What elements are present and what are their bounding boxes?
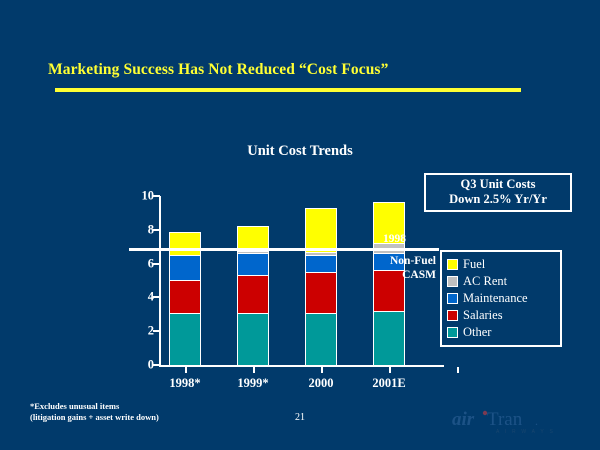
airtran-logo-svg: air Tran . A I R W A Y S bbox=[452, 408, 556, 438]
chart-legend: FuelAC RentMaintenanceSalariesOther bbox=[440, 250, 562, 347]
bar-segment-salaries bbox=[305, 272, 337, 313]
stacked-bar-1998[interactable] bbox=[169, 232, 201, 365]
x-axis-label: 2000 bbox=[309, 376, 334, 391]
svg-text:air: air bbox=[452, 409, 475, 430]
svg-text:.: . bbox=[535, 414, 538, 428]
legend-swatch-icon bbox=[447, 276, 458, 287]
x-axis-label: 1998* bbox=[169, 376, 200, 391]
legend-item-ac-rent[interactable]: AC Rent bbox=[447, 273, 555, 290]
slide-title: Marketing Success Has Not Reduced “Cost … bbox=[48, 61, 552, 79]
reference-line-label-metric-line1: Non-Fuel bbox=[370, 254, 436, 268]
legend-item-salaries[interactable]: Salaries bbox=[447, 307, 555, 324]
y-axis-tick-mark bbox=[153, 330, 160, 332]
x-axis-tick-mark bbox=[457, 367, 459, 373]
airtran-logo: air Tran . A I R W A Y S bbox=[452, 408, 556, 438]
x-axis-tick-mark bbox=[321, 367, 323, 373]
bar-segment-salaries bbox=[237, 275, 269, 313]
x-axis-tick-mark bbox=[185, 367, 187, 373]
footnote-line-1: *Excludes unusual items bbox=[30, 401, 250, 412]
bar-segment-maintenance bbox=[237, 253, 269, 276]
legend-item-maintenance[interactable]: Maintenance bbox=[447, 290, 555, 307]
legend-item-fuel[interactable]: Fuel bbox=[447, 256, 555, 273]
bar-segment-maintenance bbox=[169, 255, 201, 280]
y-axis-tick-mark bbox=[153, 229, 160, 231]
slide-canvas: Marketing Success Has Not Reduced “Cost … bbox=[0, 0, 600, 450]
chart-title-text: Unit Cost Trends bbox=[247, 143, 353, 159]
callout-line-1: Q3 Unit Costs bbox=[430, 177, 566, 192]
legend-item-label: Salaries bbox=[463, 309, 503, 322]
x-axis-tick-mark bbox=[389, 367, 391, 373]
bar-segment-other bbox=[305, 313, 337, 365]
legend-swatch-icon bbox=[447, 310, 458, 321]
stacked-bar-2000[interactable] bbox=[305, 208, 337, 365]
stacked-bar-2001E[interactable] bbox=[373, 202, 405, 365]
bar-segment-fuel bbox=[305, 208, 337, 252]
bar-segment-maintenance bbox=[305, 255, 337, 272]
legend-item-label: Fuel bbox=[463, 258, 485, 271]
footnote: *Excludes unusual items (litigation gain… bbox=[30, 401, 250, 423]
bar-segment-fuel bbox=[237, 226, 269, 251]
x-axis-tick-mark bbox=[253, 367, 255, 373]
bar-segment-other bbox=[169, 313, 201, 365]
bar-segment-other bbox=[373, 311, 405, 365]
reference-line-label-metric-line2: CASM bbox=[370, 268, 436, 282]
stacked-bar-1999[interactable] bbox=[237, 226, 269, 365]
x-axis-line bbox=[159, 365, 444, 367]
legend-swatch-icon bbox=[447, 327, 458, 338]
x-axis-labels: 1998*1999*20002001E bbox=[128, 376, 448, 394]
bar-segment-fuel bbox=[169, 232, 201, 255]
reference-line-label-metric: Non-Fuel CASM bbox=[370, 254, 436, 282]
legend-item-other[interactable]: Other bbox=[447, 324, 555, 341]
bar-segment-other bbox=[237, 313, 269, 365]
legend-item-label: Maintenance bbox=[463, 292, 528, 305]
svg-text:A I R W A Y S: A I R W A Y S bbox=[496, 429, 555, 435]
reference-line-1998-nonfuel-casm bbox=[129, 248, 439, 251]
bar-segment-salaries bbox=[169, 280, 201, 314]
title-underline-rule bbox=[55, 88, 521, 92]
y-axis-tick-mark bbox=[153, 195, 160, 197]
chart-plot-area: 0246810 bbox=[128, 190, 448, 375]
x-axis-label: 1999* bbox=[237, 376, 268, 391]
legend-item-label: AC Rent bbox=[463, 275, 507, 288]
y-axis-labels: 0246810 bbox=[128, 190, 154, 365]
chart-title: Unit Cost Trends bbox=[0, 143, 600, 160]
y-axis-tick-mark bbox=[153, 263, 160, 265]
legend-swatch-icon bbox=[447, 293, 458, 304]
y-axis-tick-mark bbox=[153, 364, 160, 366]
legend-item-label: Other bbox=[463, 326, 491, 339]
callout-line-2: Down 2.5% Yr/Yr bbox=[430, 192, 566, 207]
footnote-line-2: (litigation gains + asset write down) bbox=[30, 412, 250, 423]
x-axis-label: 2001E bbox=[372, 376, 405, 391]
y-axis-tick-mark bbox=[153, 296, 160, 298]
legend-swatch-icon bbox=[447, 259, 458, 270]
svg-text:Tran: Tran bbox=[487, 409, 523, 430]
page-number: 21 bbox=[283, 412, 317, 423]
reference-line-label-year: 1998 bbox=[383, 233, 406, 245]
